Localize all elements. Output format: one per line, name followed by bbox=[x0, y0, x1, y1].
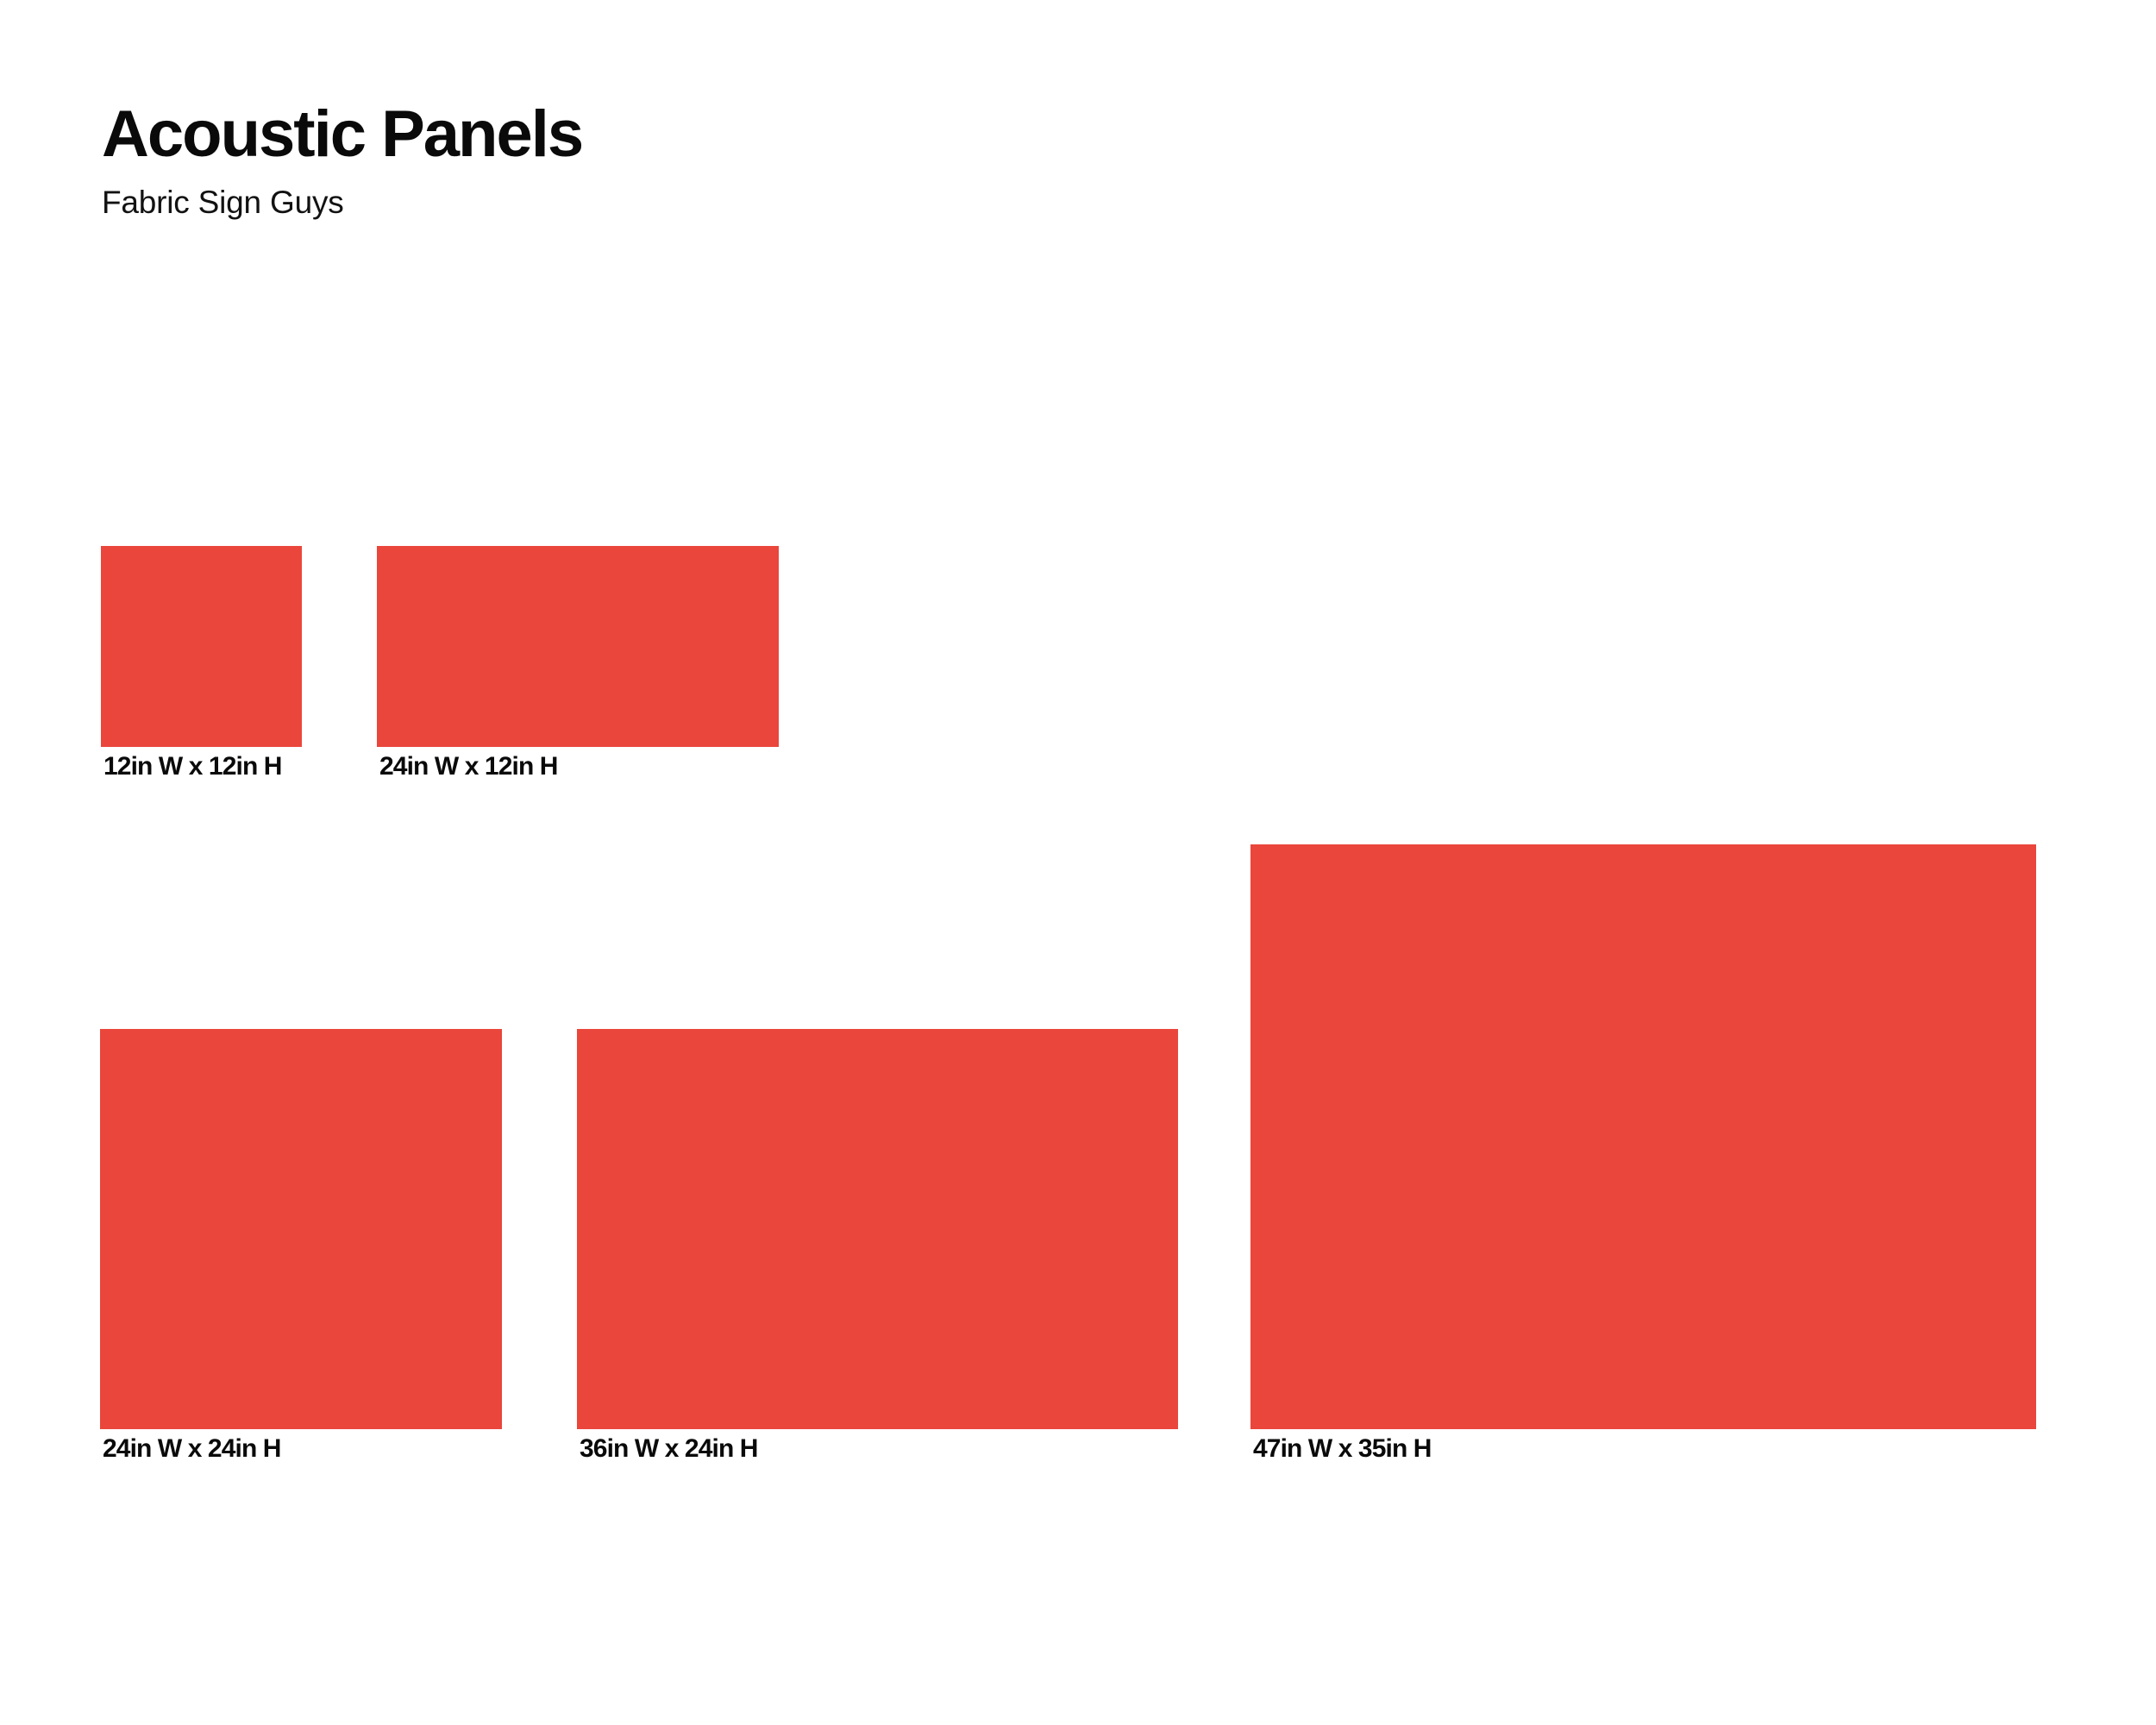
panel-size-label: 24in W x 24in H bbox=[103, 1436, 281, 1462]
panel-item: 12in W x 12in H bbox=[101, 520, 302, 780]
header: Acoustic Panels Fabric Sign Guys bbox=[102, 102, 1137, 218]
page-title: Acoustic Panels bbox=[102, 102, 1137, 167]
panel-size-chart: Acoustic Panels Fabric Sign Guys 12in W … bbox=[0, 0, 2156, 1725]
page-subtitle: Fabric Sign Guys bbox=[102, 167, 1137, 218]
panel-item: 47in W x 35in H bbox=[1250, 819, 2036, 1462]
panel-size-label: 36in W x 24in H bbox=[580, 1436, 758, 1462]
panel-size-label: 12in W x 12in H bbox=[103, 754, 282, 780]
panel-item: 24in W x 12in H bbox=[377, 520, 779, 780]
panel-size-label: 47in W x 35in H bbox=[1253, 1436, 1432, 1462]
panel-swatch[interactable] bbox=[1250, 844, 2036, 1429]
panel-swatch[interactable] bbox=[100, 1029, 502, 1429]
panel-swatch[interactable] bbox=[377, 546, 779, 747]
panel-item: 36in W x 24in H bbox=[577, 1003, 1178, 1462]
panel-swatch[interactable] bbox=[577, 1029, 1178, 1429]
panel-swatch[interactable] bbox=[101, 546, 302, 747]
panel-size-label: 24in W x 12in H bbox=[379, 754, 558, 780]
panel-item: 24in W x 24in H bbox=[100, 1003, 502, 1462]
